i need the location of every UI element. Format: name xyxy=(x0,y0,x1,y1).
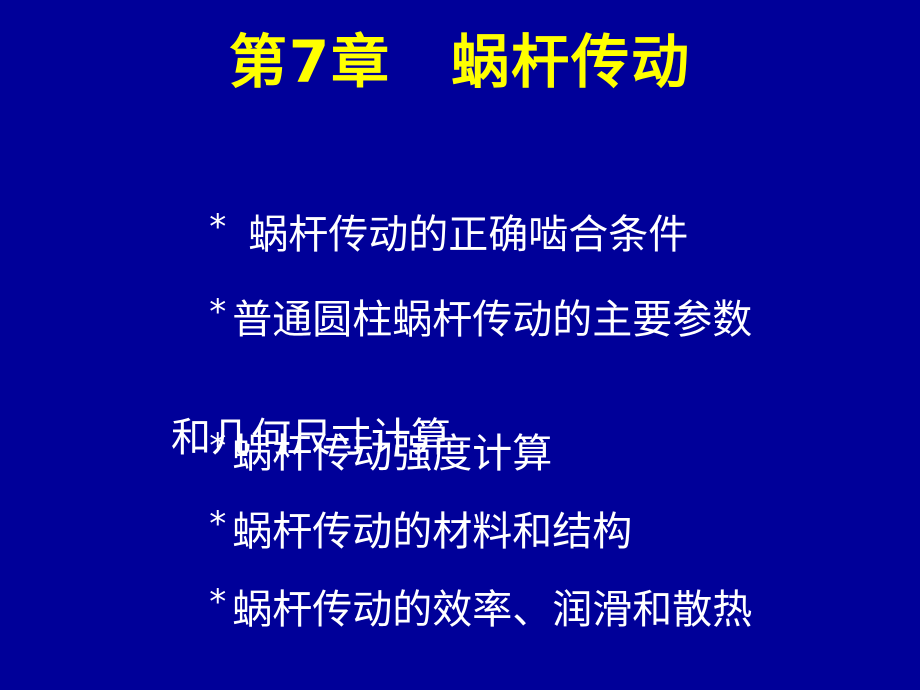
list-item-label: 蜗杆传动的效率、润滑和散热 xyxy=(232,587,752,633)
bullet-marker-icon: * xyxy=(209,289,226,335)
list-item: *蜗杆传动的效率、润滑和散热 xyxy=(133,533,752,679)
page-title: 第7章 蜗杆传动 xyxy=(0,26,920,98)
presentation-slide: 第7章 蜗杆传动 *蜗杆传动的正确啮合条件 *普通圆柱蜗杆传动的主要参数 和几何… xyxy=(0,0,920,690)
bullet-marker-icon: * xyxy=(209,579,226,625)
list-item-label: 普通圆柱蜗杆传动的主要参数 xyxy=(232,297,752,343)
